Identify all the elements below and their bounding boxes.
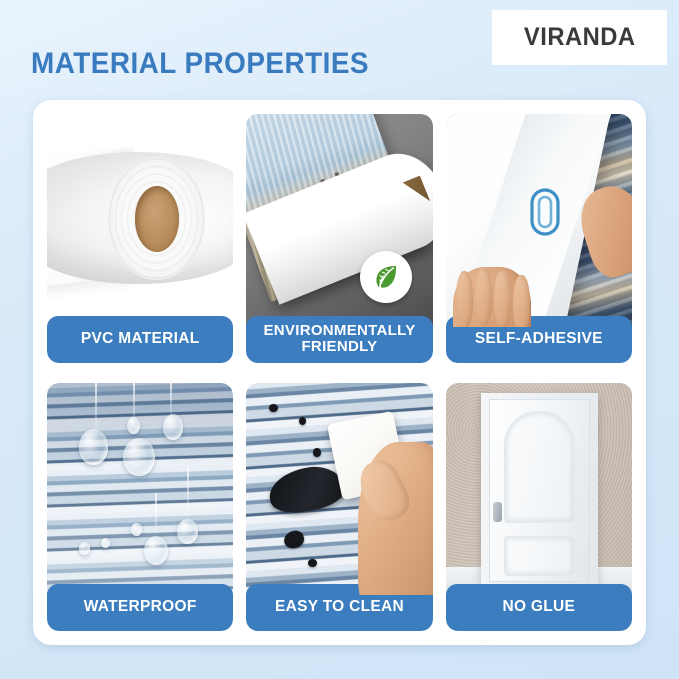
door-frame-shape bbox=[481, 393, 598, 584]
page-title: MATERIAL PROPERTIES bbox=[31, 47, 369, 81]
feature-label-waterproof: WATERPROOF bbox=[47, 584, 233, 631]
feature-label-no-glue: NO GLUE bbox=[446, 584, 632, 631]
peeling-wallpaper-hands-photo bbox=[446, 114, 632, 327]
door-panel-top-shape bbox=[504, 411, 575, 524]
paperclip-icon bbox=[528, 186, 562, 238]
door-panel-bottom-shape bbox=[504, 536, 575, 576]
feature-card-environmentally-friendly[interactable]: ENVIRONMENTALLY FRIENDLY bbox=[246, 114, 432, 363]
pvc-roll-photo bbox=[47, 114, 233, 327]
header: MATERIAL PROPERTIES VIRANDA bbox=[0, 0, 679, 100]
wiping-stain-photo bbox=[246, 383, 432, 596]
feature-card-self-adhesive[interactable]: SELF-ADHESIVE bbox=[446, 114, 632, 363]
water-droplets-texture-photo bbox=[47, 383, 233, 596]
leaf-icon bbox=[360, 251, 412, 303]
white-door-photo bbox=[446, 383, 632, 596]
hand-shape bbox=[358, 442, 433, 595]
feature-card-no-glue[interactable]: NO GLUE bbox=[446, 383, 632, 632]
door-handle-shape bbox=[493, 502, 502, 522]
hand-shape bbox=[453, 267, 531, 327]
features-grid: PVC MATERIAL ENVIRONMENTALLY FRIENDLY bbox=[47, 114, 632, 631]
feature-card-easy-to-clean[interactable]: EASY TO CLEAN bbox=[246, 383, 432, 632]
stain-shape bbox=[266, 462, 346, 516]
door-leaf-shape bbox=[489, 399, 590, 583]
roll-core-shape bbox=[135, 186, 180, 252]
brand-logo-text: VIRANDA bbox=[524, 23, 636, 52]
rolled-wallpaper-photo bbox=[246, 114, 432, 327]
feature-card-pvc-material[interactable]: PVC MATERIAL bbox=[47, 114, 233, 363]
brand-logo: VIRANDA bbox=[492, 10, 667, 65]
feature-card-waterproof[interactable]: WATERPROOF bbox=[47, 383, 233, 632]
features-panel: PVC MATERIAL ENVIRONMENTALLY FRIENDLY bbox=[33, 100, 646, 645]
feature-label-environmentally-friendly: ENVIRONMENTALLY FRIENDLY bbox=[246, 316, 432, 363]
feature-label-pvc-material: PVC MATERIAL bbox=[47, 316, 233, 363]
